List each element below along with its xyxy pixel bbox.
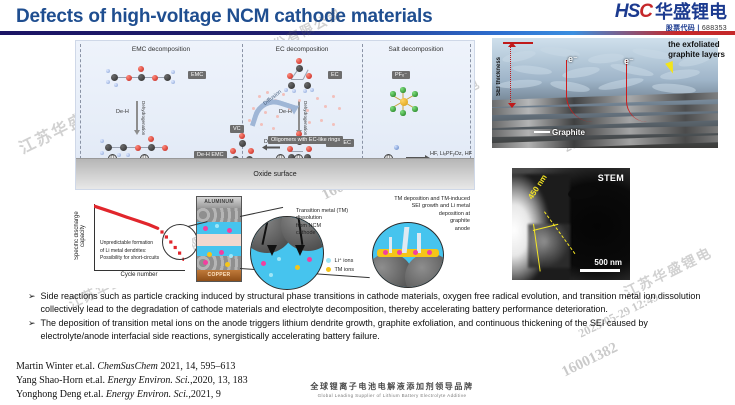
exfoliated-layers-line-1: the exfoliated bbox=[668, 40, 725, 50]
cell-electrolyte bbox=[197, 208, 241, 270]
logo-stock-line: 股票代码 | 688353 bbox=[577, 23, 727, 33]
tm-deposition-caption-line-2: SEI growth and Li metal bbox=[352, 203, 470, 210]
electron-label-2: e⁻ bbox=[624, 56, 634, 67]
tm-deposition-caption-line-3: deposition at bbox=[352, 211, 470, 218]
footer-tagline-cn: 全球锂离子电池电解液添加剂领导品牌 bbox=[292, 381, 492, 392]
tm-deposition-caption-line-1: TM deposition and TM-induced bbox=[352, 196, 470, 203]
sei-thickness-bracket bbox=[510, 46, 511, 104]
cell-anode-current-collector: COPPER bbox=[197, 270, 241, 281]
stem-micrograph: STEM 450 nm 500 nm bbox=[512, 168, 630, 280]
reference-details-2: ,2020, 13, 183 bbox=[190, 375, 248, 386]
bullet-arrow-icon: ➢ bbox=[28, 317, 36, 343]
oxide-surface-band: Oxide surface bbox=[76, 158, 474, 189]
legend-swatch-li bbox=[326, 258, 331, 263]
reference-item-1: Martin Winter et.al. ChemSusChem 2021, 1… bbox=[16, 360, 248, 374]
label-dehydrogenation-ec: Dehydrogenation bbox=[303, 101, 308, 135]
watermark-number-bottom: 16001382 bbox=[559, 340, 620, 382]
key-findings-list: ➢ Side reactions such as particle cracki… bbox=[28, 290, 718, 344]
reference-journal-1: ChemSusChem bbox=[97, 361, 158, 372]
company-logo: HSC 华盛锂电 股票代码 | 688353 bbox=[577, 2, 727, 33]
tag-vc: VC bbox=[230, 125, 244, 133]
reference-item-2: Yang Shao-Horn et.al. Energy Environ. Sc… bbox=[16, 374, 248, 388]
bullet-text-1: Side reactions such as particle cracking… bbox=[41, 290, 718, 316]
legend-tm-ions: TM ions bbox=[326, 267, 354, 274]
panel-title-ec: EC decomposition bbox=[242, 46, 362, 53]
reference-item-3: Yonghong Deng et.al. Energy Environ. Sci… bbox=[16, 388, 248, 402]
exfoliated-layers-label: the exfoliated graphite layers bbox=[668, 40, 725, 59]
graphite-label: Graphite bbox=[552, 128, 585, 137]
chart-x-axis-label: Cycle number bbox=[94, 272, 184, 278]
legend-label-li: Li⁺ ions bbox=[335, 258, 354, 264]
arrow-deh-emc bbox=[136, 101, 138, 131]
electrolyte-decomposition-diagram: EMC decomposition EC decomposition Salt … bbox=[75, 40, 475, 190]
tag-pf6: PF₆⁻ bbox=[392, 71, 410, 79]
reference-authors-1: Martin Winter et.al. bbox=[16, 361, 95, 372]
panel-title-salt: Salt decomposition bbox=[362, 46, 470, 53]
electron-label-1: e⁻ bbox=[568, 54, 578, 65]
label-dehydrogenation-emc: Dehydrogenation bbox=[141, 101, 146, 135]
list-item: ➢ The deposition of transition metal ion… bbox=[28, 317, 718, 343]
bullet-arrow-icon: ➢ bbox=[28, 290, 36, 316]
chart-magnifier-circle bbox=[162, 224, 198, 260]
stem-mode-label: STEM bbox=[598, 173, 624, 183]
exfoliated-layers-line-2: graphite layers bbox=[668, 50, 725, 60]
tag-ec: EC bbox=[328, 71, 342, 79]
reference-list: Martin Winter et.al. ChemSusChem 2021, 1… bbox=[16, 360, 248, 403]
molecule-pf6 bbox=[388, 87, 422, 117]
label-salt-products: HF, LiₓPFᵧOᴢ, HF bbox=[430, 151, 472, 157]
chart-annotation: Unpredictable formation of Li metal dend… bbox=[100, 240, 159, 263]
cell-separator bbox=[197, 234, 241, 246]
footer-tagline-en: Global Leading Supplier of Lithium Batte… bbox=[292, 393, 492, 398]
tm-deposition-caption-line-5: anode bbox=[352, 226, 470, 233]
tag-emc: EMC bbox=[188, 71, 206, 79]
stem-scale-text: 500 nm bbox=[594, 258, 622, 267]
reference-details-1: 2021, 14, 595–613 bbox=[160, 361, 235, 372]
cell-cathode-current-collector: ALUMINUM bbox=[197, 197, 241, 208]
logo-company-name-cn: 华盛锂电 bbox=[655, 3, 727, 21]
label-deh-emc: De-H bbox=[116, 109, 129, 115]
panel-edge-right bbox=[470, 44, 471, 159]
chart-annotation-line-1: Unpredictable formation bbox=[100, 240, 159, 248]
legend-li-ions: Li⁺ ions bbox=[326, 258, 353, 265]
arrow-vc-formation bbox=[266, 147, 280, 149]
chart-annotation-line-2: of Li metal dendrites: bbox=[100, 248, 159, 256]
reference-authors-3: Yonghong Deng et.al. bbox=[16, 389, 103, 400]
sei-thickness-label: SEI thickness bbox=[496, 50, 502, 102]
tm-deposition-caption-line-4: graphite bbox=[352, 218, 470, 225]
tm-deposition-caption: TM deposition and TM-induced SEI growth … bbox=[352, 196, 470, 233]
stem-scale-bar bbox=[580, 269, 620, 272]
legend-label-tm: TM ions bbox=[334, 267, 354, 273]
footer-tagline: 全球锂离子电池电解液添加剂领导品牌 Global Leading Supplie… bbox=[292, 381, 492, 398]
legend-swatch-tm bbox=[326, 267, 331, 272]
reference-journal-2: Energy Environ. Sci. bbox=[107, 375, 190, 386]
panel-edge-left bbox=[80, 44, 81, 159]
capacity-fade-chart: Specific discharge capacity Cycle number… bbox=[70, 196, 192, 288]
chart-annotation-line-3: Possibility for short-circuits bbox=[100, 255, 159, 263]
reference-details-3: ,2021, 9 bbox=[188, 389, 221, 400]
cell-cathode-particles bbox=[197, 208, 241, 222]
page-title: Defects of high-voltage NCM cathode mate… bbox=[16, 6, 432, 28]
logo-mark-hsc: HSC bbox=[615, 2, 652, 21]
battery-cell-schematic: ALUMINUM COPPER bbox=[196, 196, 242, 282]
molecule-emc bbox=[104, 67, 180, 89]
stem-dark-blob bbox=[567, 184, 599, 201]
panel-title-emc: EMC decomposition bbox=[80, 46, 242, 53]
graphite-pointer-tick bbox=[534, 131, 550, 133]
tag-oligomers: Oligomers with EC-like rings bbox=[268, 136, 343, 144]
chart-y-axis-label: Specific discharge capacity bbox=[74, 202, 86, 270]
molecule-ec bbox=[282, 63, 322, 93]
list-item: ➢ Side reactions such as particle cracki… bbox=[28, 290, 718, 316]
callout-lead-line-top bbox=[240, 207, 283, 217]
oxide-surface-label: Oxide surface bbox=[76, 171, 474, 178]
reference-journal-3: Energy Environ. Sci. bbox=[106, 389, 189, 400]
panel-divider-2 bbox=[362, 44, 363, 159]
reference-authors-2: Yang Shao-Horn et.al. bbox=[16, 375, 105, 386]
bullet-text-2: The deposition of transition metal ions … bbox=[41, 317, 718, 343]
